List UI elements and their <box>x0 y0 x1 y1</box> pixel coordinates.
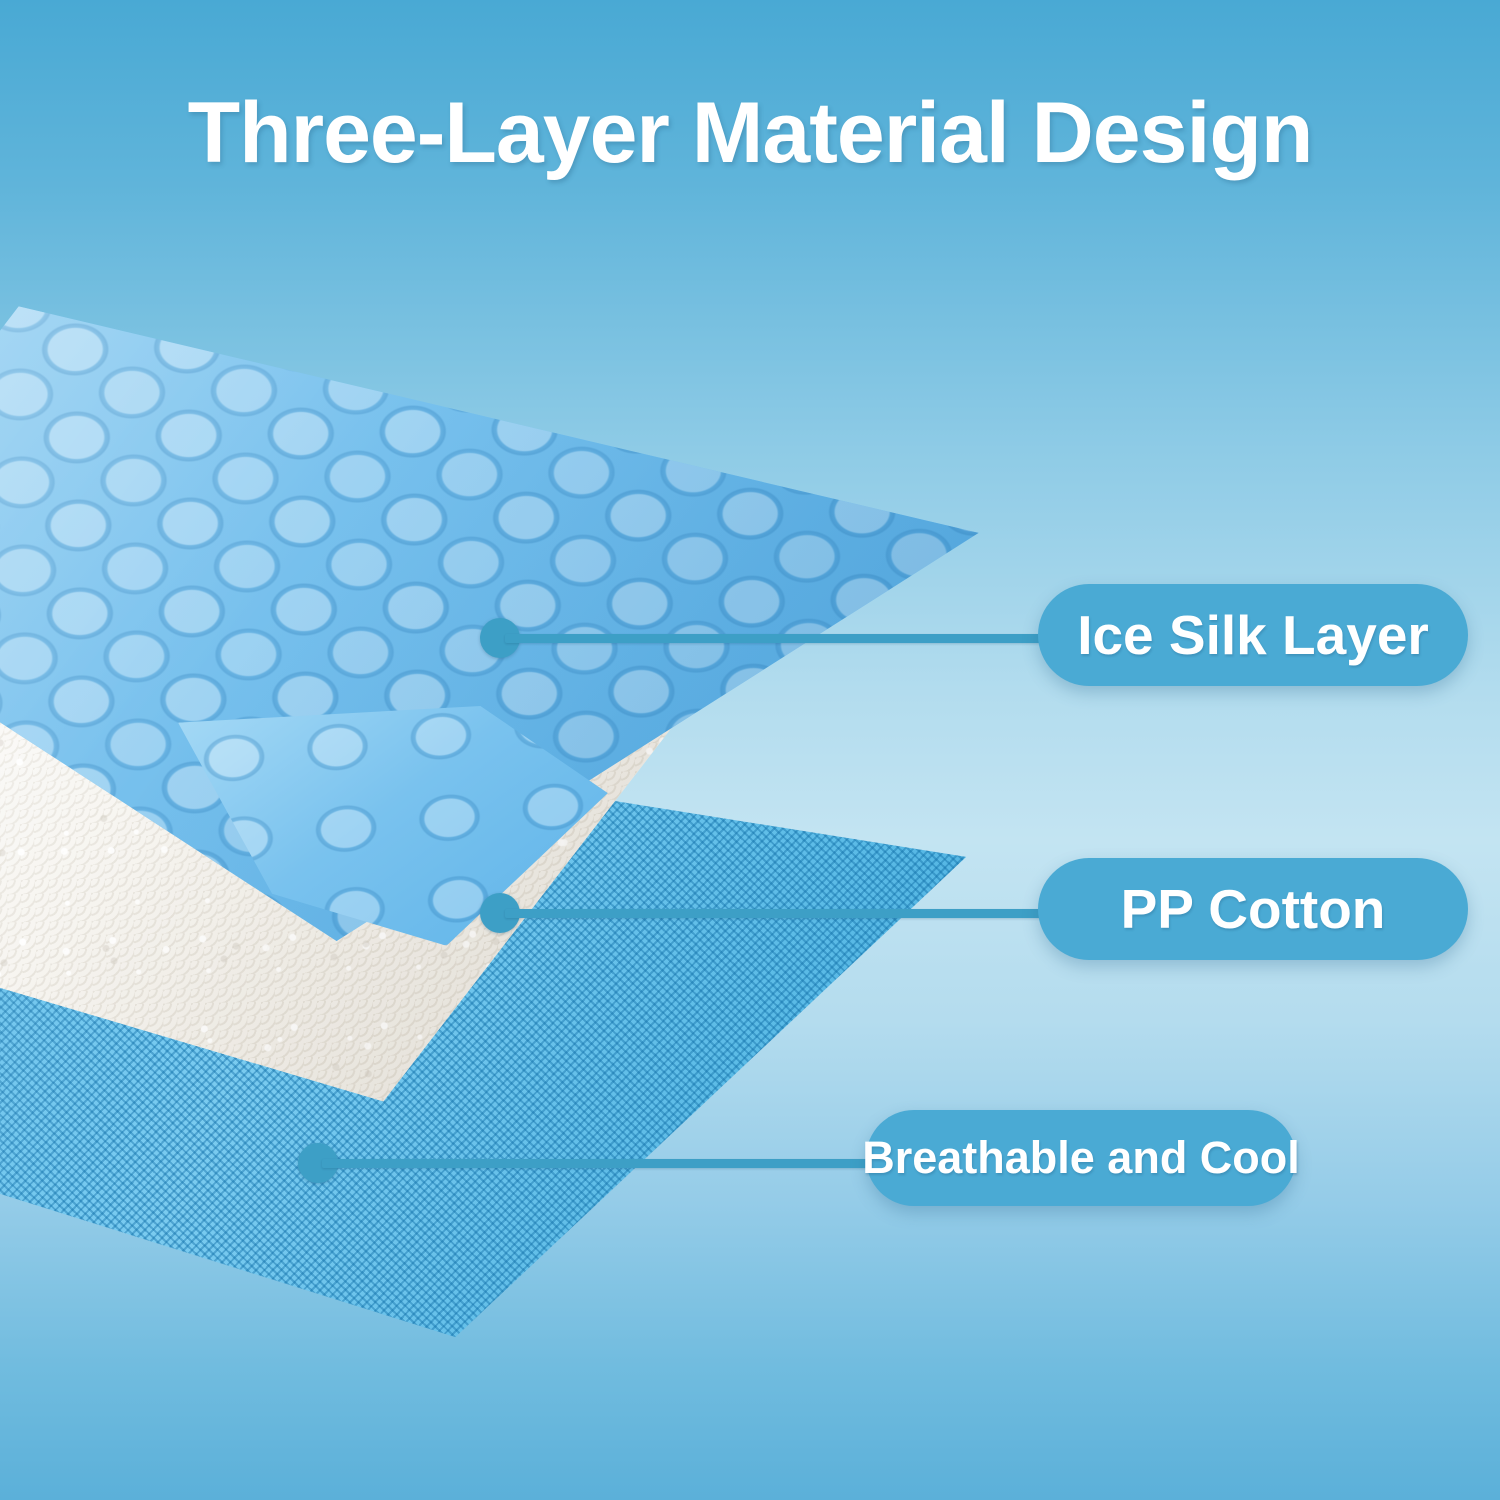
page-title: Three-Layer Material Design <box>0 88 1500 178</box>
callout-line-ice-silk <box>505 634 1065 643</box>
infographic-canvas: Three-Layer Material Design Ice Silk Lay… <box>0 0 1500 1500</box>
callout-line-pp-cotton <box>505 909 1065 918</box>
callout-line-breathable <box>322 1159 892 1168</box>
callout-label-pp-cotton: PP Cotton <box>1038 858 1468 960</box>
callout-label-breathable: Breathable and Cool <box>866 1110 1296 1206</box>
material-layer-stack <box>0 0 1500 1500</box>
callout-label-ice-silk: Ice Silk Layer <box>1038 584 1468 686</box>
